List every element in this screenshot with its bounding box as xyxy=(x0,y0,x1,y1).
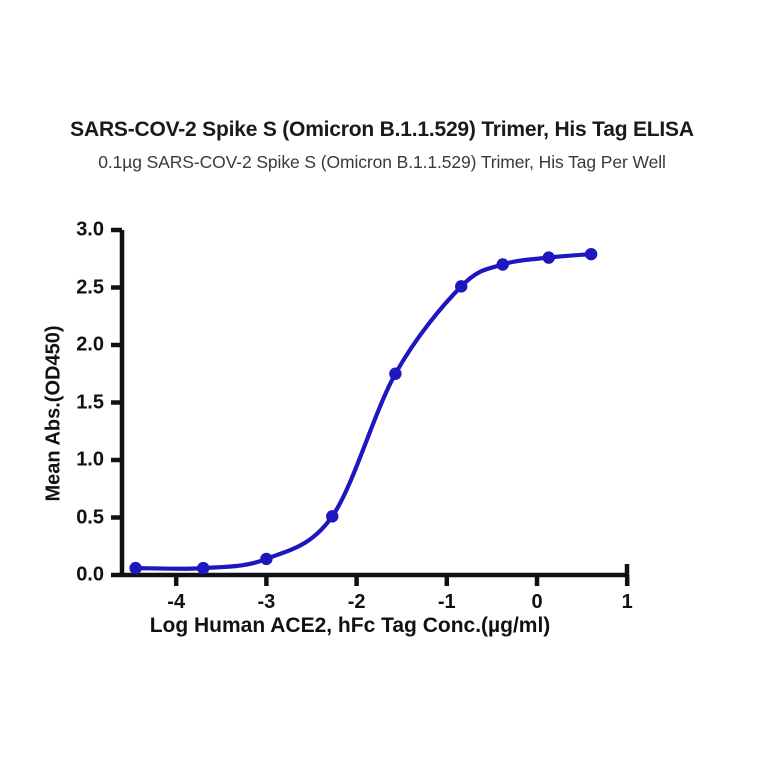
x-tick-label-5: 1 xyxy=(607,591,647,614)
data-point-5 xyxy=(455,280,467,292)
figure-root: SARS-COV-2 Spike S (Omicron B.1.1.529) T… xyxy=(0,0,764,764)
data-point-1 xyxy=(197,562,209,574)
x-tick-label-3: -1 xyxy=(427,591,467,614)
data-point-2 xyxy=(260,553,272,565)
series-line xyxy=(136,254,592,569)
x-tick-label-4: 0 xyxy=(517,591,557,614)
x-axis-label: Log Human ACE2, hFc Tag Conc.(µg/ml) xyxy=(0,614,700,638)
y-axis-label: Mean Abs.(OD450) xyxy=(43,294,66,534)
data-point-7 xyxy=(543,251,555,263)
chart-svg xyxy=(0,0,764,764)
x-tick-label-0: -4 xyxy=(156,591,196,614)
x-tick-label-1: -3 xyxy=(246,591,286,614)
data-point-0 xyxy=(129,562,141,574)
data-point-3 xyxy=(326,510,338,522)
plot-area: 0.00.51.01.52.02.53.0-4-3-2-101Mean Abs.… xyxy=(0,0,764,764)
x-tick-label-2: -2 xyxy=(337,591,377,614)
data-point-4 xyxy=(389,368,401,380)
y-tick-label-0: 0.0 xyxy=(52,564,104,587)
data-point-8 xyxy=(585,248,597,260)
data-point-6 xyxy=(497,258,509,270)
y-tick-label-6: 3.0 xyxy=(52,219,104,242)
